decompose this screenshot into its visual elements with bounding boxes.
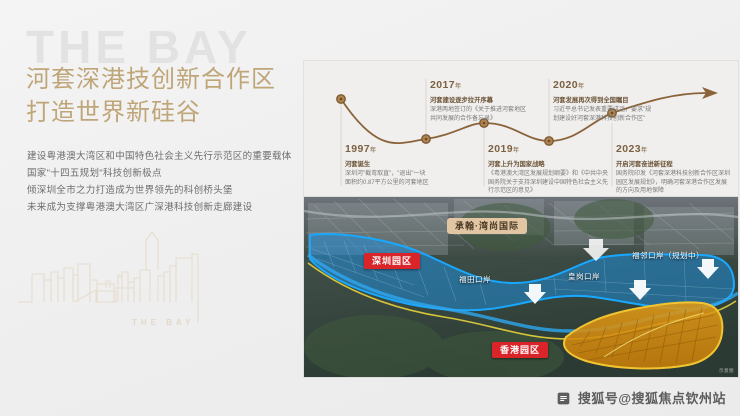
map-tag-project-name[interactable]: 承翰·湾尚国际: [447, 218, 527, 234]
timeline-item-1997[interactable]: 1997年 河套诞生 深圳河"截弯取直"，"退出"一块 面积约0.87平方公里的…: [345, 143, 429, 187]
source-watermark-text: 搜狐号@搜狐焦点钦州站: [578, 391, 726, 406]
timeline-item-2019[interactable]: 2019年 河套上升为国家战略 《粤港澳大湾区发展规划纲要》和《中共中央 国务院…: [488, 143, 608, 196]
map-tag-shenzhen-park[interactable]: 深圳园区: [364, 253, 420, 269]
left-text-panel: THE BAY 河套深港技创新合作区 打造世界新硅谷 建设粤港澳大湾区和中国特色…: [0, 0, 300, 416]
timeline-headline: 河套上升为国家战略: [488, 160, 608, 169]
bullet-item: 建设粤港澳大湾区和中国特色社会主义先行示范区的重要载体: [27, 148, 292, 165]
timeline-year: 2020年: [553, 79, 651, 93]
timeline-headline: 河套建设逐步拉开序幕: [430, 96, 526, 105]
timeline-year: 1997年: [345, 143, 429, 157]
timeline-item-2017[interactable]: 2017年 河套建设逐步拉开序幕 深港两地签订的《关于推进河套地区 共同发展的合…: [430, 79, 526, 123]
timeline-item-2020[interactable]: 2020年 河套发展再次得到全国瞩目 习近平总书记发表重要讲话，要求"规 划建设…: [553, 79, 651, 123]
timeline-headline: 开启河套奋进新征程: [616, 160, 730, 169]
sohu-logo-icon: [557, 392, 570, 405]
timeline-year: 2017年: [430, 79, 526, 93]
slide-canvas: THE BAY 河套深港技创新合作区 打造世界新硅谷 建设粤港澳大湾区和中国特色…: [0, 0, 740, 416]
map-tag-hongkong-park[interactable]: 香港园区: [492, 342, 548, 358]
bullet-item: 国家"十四五规划"科技创新极点: [27, 165, 292, 182]
map-label-planned-port: 福邻口岸（规划中）: [632, 250, 704, 261]
map-label-futian-port: 福田口岸: [459, 274, 491, 285]
timeline-headline: 河套发展再次得到全国瞩目: [553, 96, 651, 105]
timeline-headline: 河套诞生: [345, 160, 429, 169]
map-label-huanggang-port: 皇岗口岸: [568, 271, 600, 282]
map-credit-note: 示意图: [719, 368, 734, 374]
skyline-caption: THE BAY: [132, 318, 194, 327]
timeline-chart: 1997年 河套诞生 深圳河"截弯取直"，"退出"一块 面积约0.87平方公里的…: [303, 60, 739, 197]
timeline-year: 2023年: [616, 143, 730, 157]
source-watermark: 搜狐号@搜狐焦点钦州站: [557, 388, 726, 407]
aerial-map-image: 承翰·湾尚国际 深圳园区 香港园区 福田口岸 皇岗口岸 福邻口岸（规划中） 示意…: [303, 196, 739, 378]
bullet-list: 建设粤港澳大湾区和中国特色社会主义先行示范区的重要载体 国家"十四五规划"科技创…: [27, 148, 292, 216]
page-title-line-1: 河套深港技创新合作区: [26, 63, 276, 96]
timeline-body: 《粤港澳大湾区发展规划纲要》和《中共中央 国务院关于支持深圳建设中国特色社会主义…: [488, 170, 608, 196]
page-title: 河套深港技创新合作区 打造世界新硅谷: [26, 63, 276, 129]
timeline-body: 深圳河"截弯取直"，"退出"一块 面积约0.87平方公里的河套地区: [345, 170, 429, 187]
bullet-item: 倾深圳全市之力打造成为世界领先的科创桥头堡: [27, 182, 292, 199]
bullet-item: 未来成为支撑粤港澳大湾区广深港科技创新走廊建设: [27, 199, 292, 216]
timeline-item-2023[interactable]: 2023年 开启河套奋进新征程 国务院印发《河套深港科技创新合作区深圳 园区发展…: [616, 143, 730, 196]
page-title-line-2: 打造世界新硅谷: [26, 96, 276, 129]
timeline-body: 深港两地签订的《关于推进河套地区 共同发展的合作备忘录》: [430, 106, 526, 123]
timeline-body: 国务院印发《河套深港科技创新合作区深圳 园区发展规划》，明确河套深港合作区发展 …: [616, 170, 730, 196]
timeline-year: 2019年: [488, 143, 608, 157]
timeline-body: 习近平总书记发表重要讲话，要求"规 划建设好河套深港科技创新合作区": [553, 106, 651, 123]
